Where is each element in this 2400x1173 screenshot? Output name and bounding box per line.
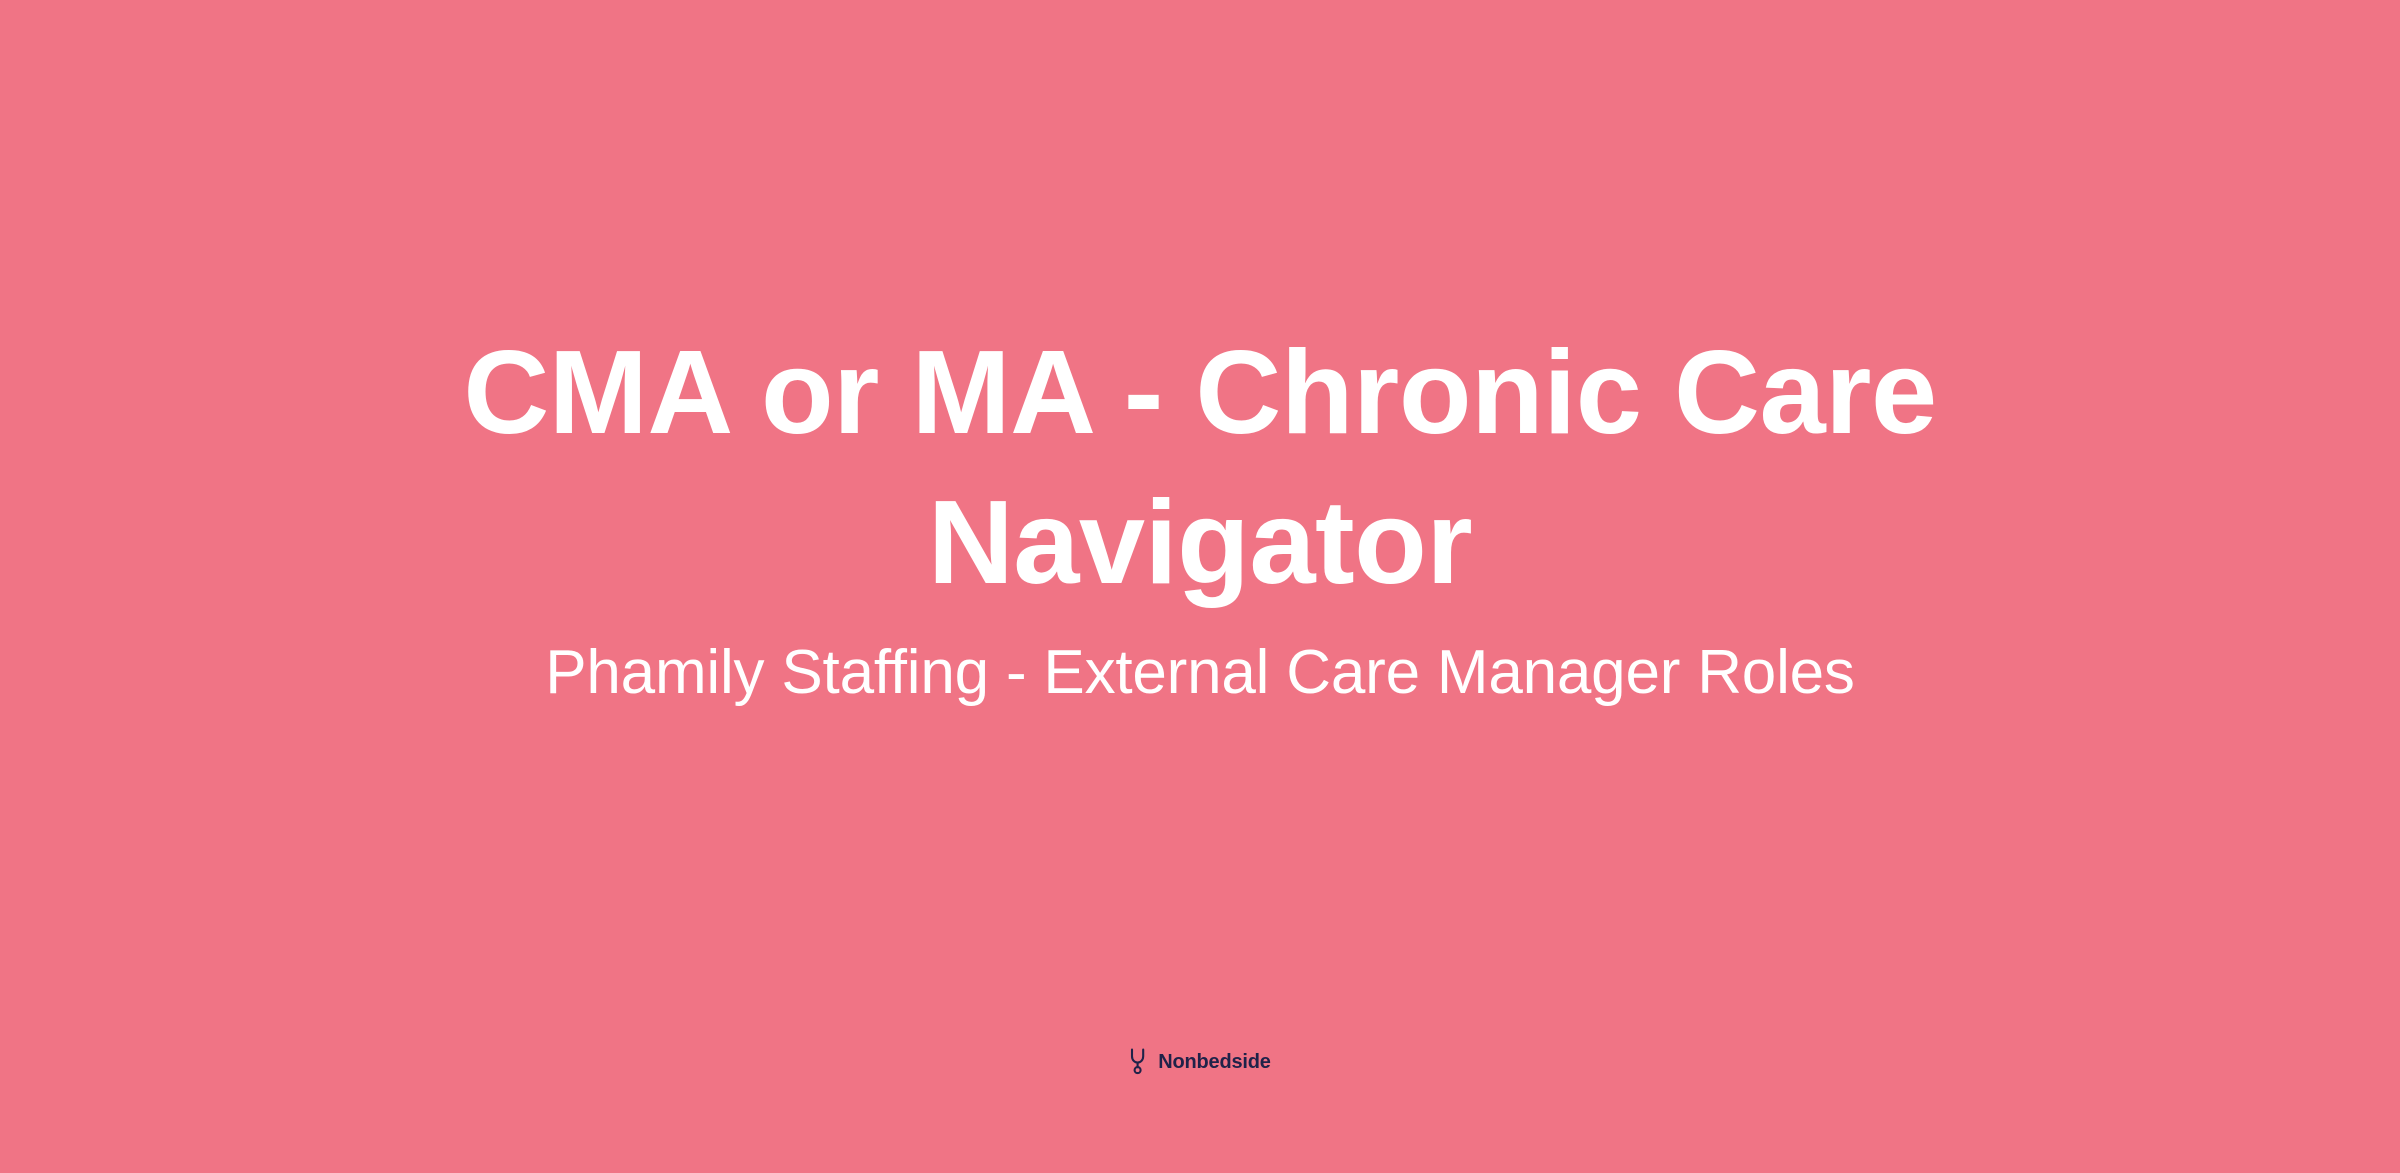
brand-logo: Nonbedside: [0, 1048, 2400, 1076]
page-title: CMA or MA - Chronic Care Navigator: [420, 318, 1980, 618]
page-subtitle: Phamily Staffing - External Care Manager…: [180, 630, 2220, 716]
title-slide: CMA or MA - Chronic Care Navigator Phami…: [0, 0, 2400, 1173]
stethoscope-icon: [1129, 1048, 1151, 1076]
brand-name: Nonbedside: [1158, 1050, 1270, 1074]
title-block: CMA or MA - Chronic Care Navigator Phami…: [0, 318, 2400, 716]
